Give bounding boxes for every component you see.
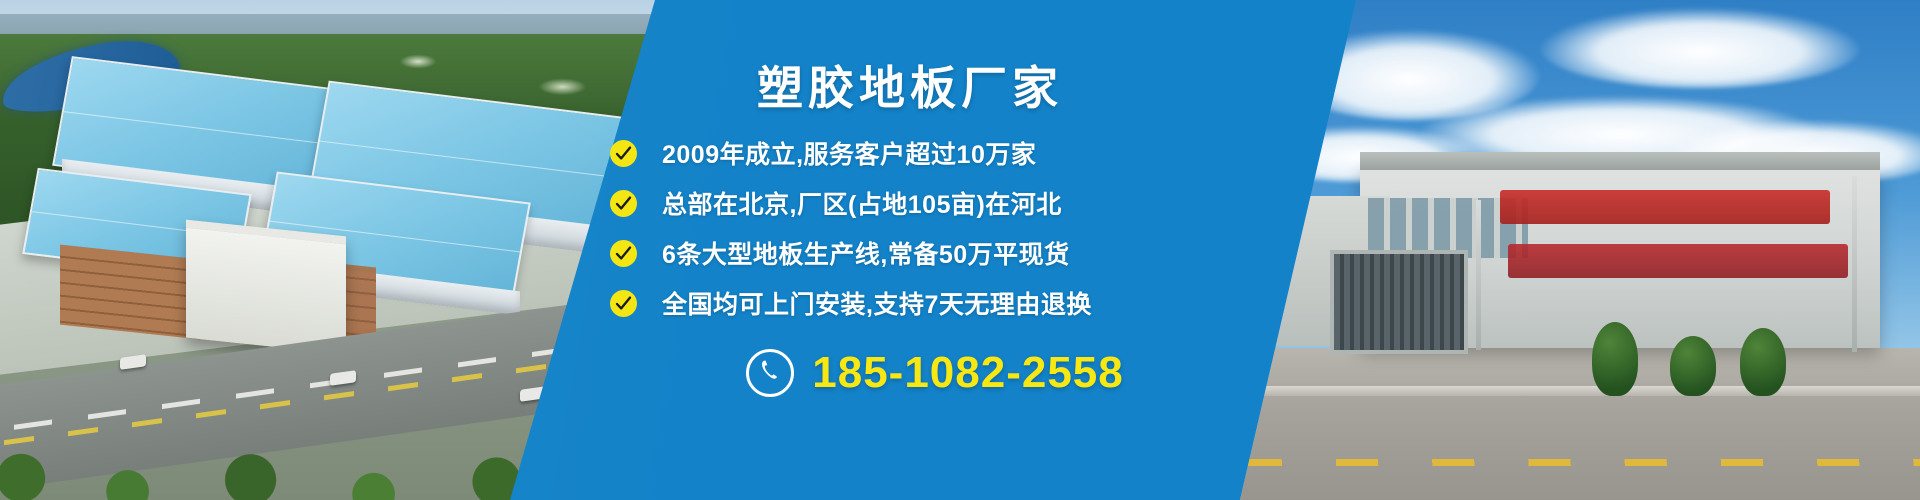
list-item: 6条大型地板生产线,常备50万平现货 [610, 228, 1220, 278]
promo-banner: 塑胶地板厂家 2009年成立,服务客户超过10万家 [0, 0, 1920, 500]
check-circle-icon [610, 240, 637, 267]
list-item-label: 全国均可上门安装,支持7天无理由退换 [662, 285, 1092, 321]
right-photo-overlay [1240, 0, 1920, 500]
telephone-icon [746, 349, 794, 397]
list-item-label: 总部在北京,厂区(占地105亩)在河北 [662, 185, 1062, 221]
list-item: 总部在北京,厂区(占地105亩)在河北 [610, 178, 1220, 228]
feature-list: 2009年成立,服务客户超过10万家 总部在北京,厂区(占地105亩)在河北 [610, 128, 1220, 328]
page-title: 塑胶地板厂家 [600, 52, 1220, 118]
list-item-label: 2009年成立,服务客户超过10万家 [662, 135, 1036, 171]
list-item: 全国均可上门安装,支持7天无理由退换 [610, 278, 1220, 328]
list-item: 2009年成立,服务客户超过10万家 [610, 128, 1220, 178]
office-building [186, 220, 346, 355]
phone-number[interactable]: 185-1082-2558 [812, 348, 1123, 398]
brick-building [60, 245, 200, 340]
check-circle-icon [610, 190, 637, 217]
list-item-label: 6条大型地板生产线,常备50万平现货 [662, 235, 1070, 271]
check-circle-icon [610, 140, 637, 167]
check-circle-icon [610, 290, 637, 317]
contact-phone[interactable]: 185-1082-2558 [600, 348, 1240, 398]
